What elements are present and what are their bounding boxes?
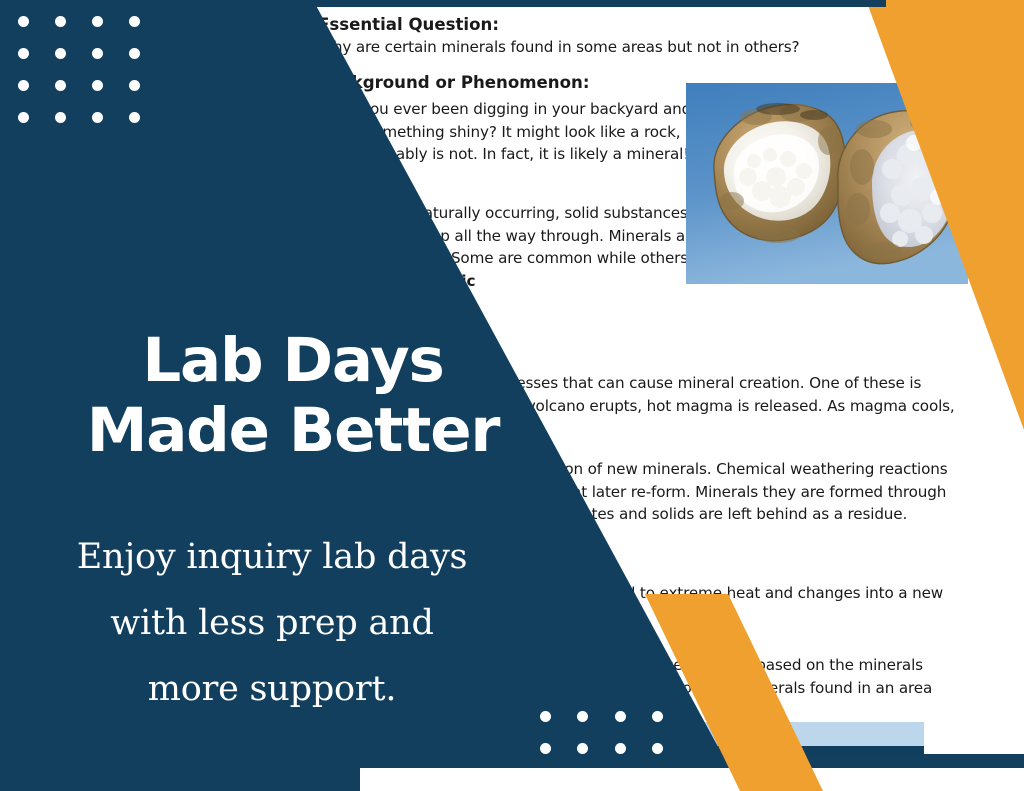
headline-line-2: Made Better xyxy=(0,396,586,466)
headline-line-1: Lab Days xyxy=(142,325,443,396)
navy-bottom-strip xyxy=(360,754,1024,768)
subheadline-line-3: more support. xyxy=(0,656,544,722)
subheadline: Enjoy inquiry lab days with less prep an… xyxy=(0,524,544,722)
white-bottom-strip xyxy=(360,768,1024,791)
essential-question-body: Why are certain minerals found in some a… xyxy=(318,36,966,59)
subheadline-line-1: Enjoy inquiry lab days xyxy=(0,524,544,590)
navy-top-strip xyxy=(296,0,886,7)
promo-card-canvas: Essential Question: Why are certain mine… xyxy=(0,0,1024,791)
subheadline-line-2: with less prep and xyxy=(0,590,544,656)
essential-question-heading: Essential Question: xyxy=(318,14,966,37)
headline: Lab Days Made Better xyxy=(0,326,586,466)
